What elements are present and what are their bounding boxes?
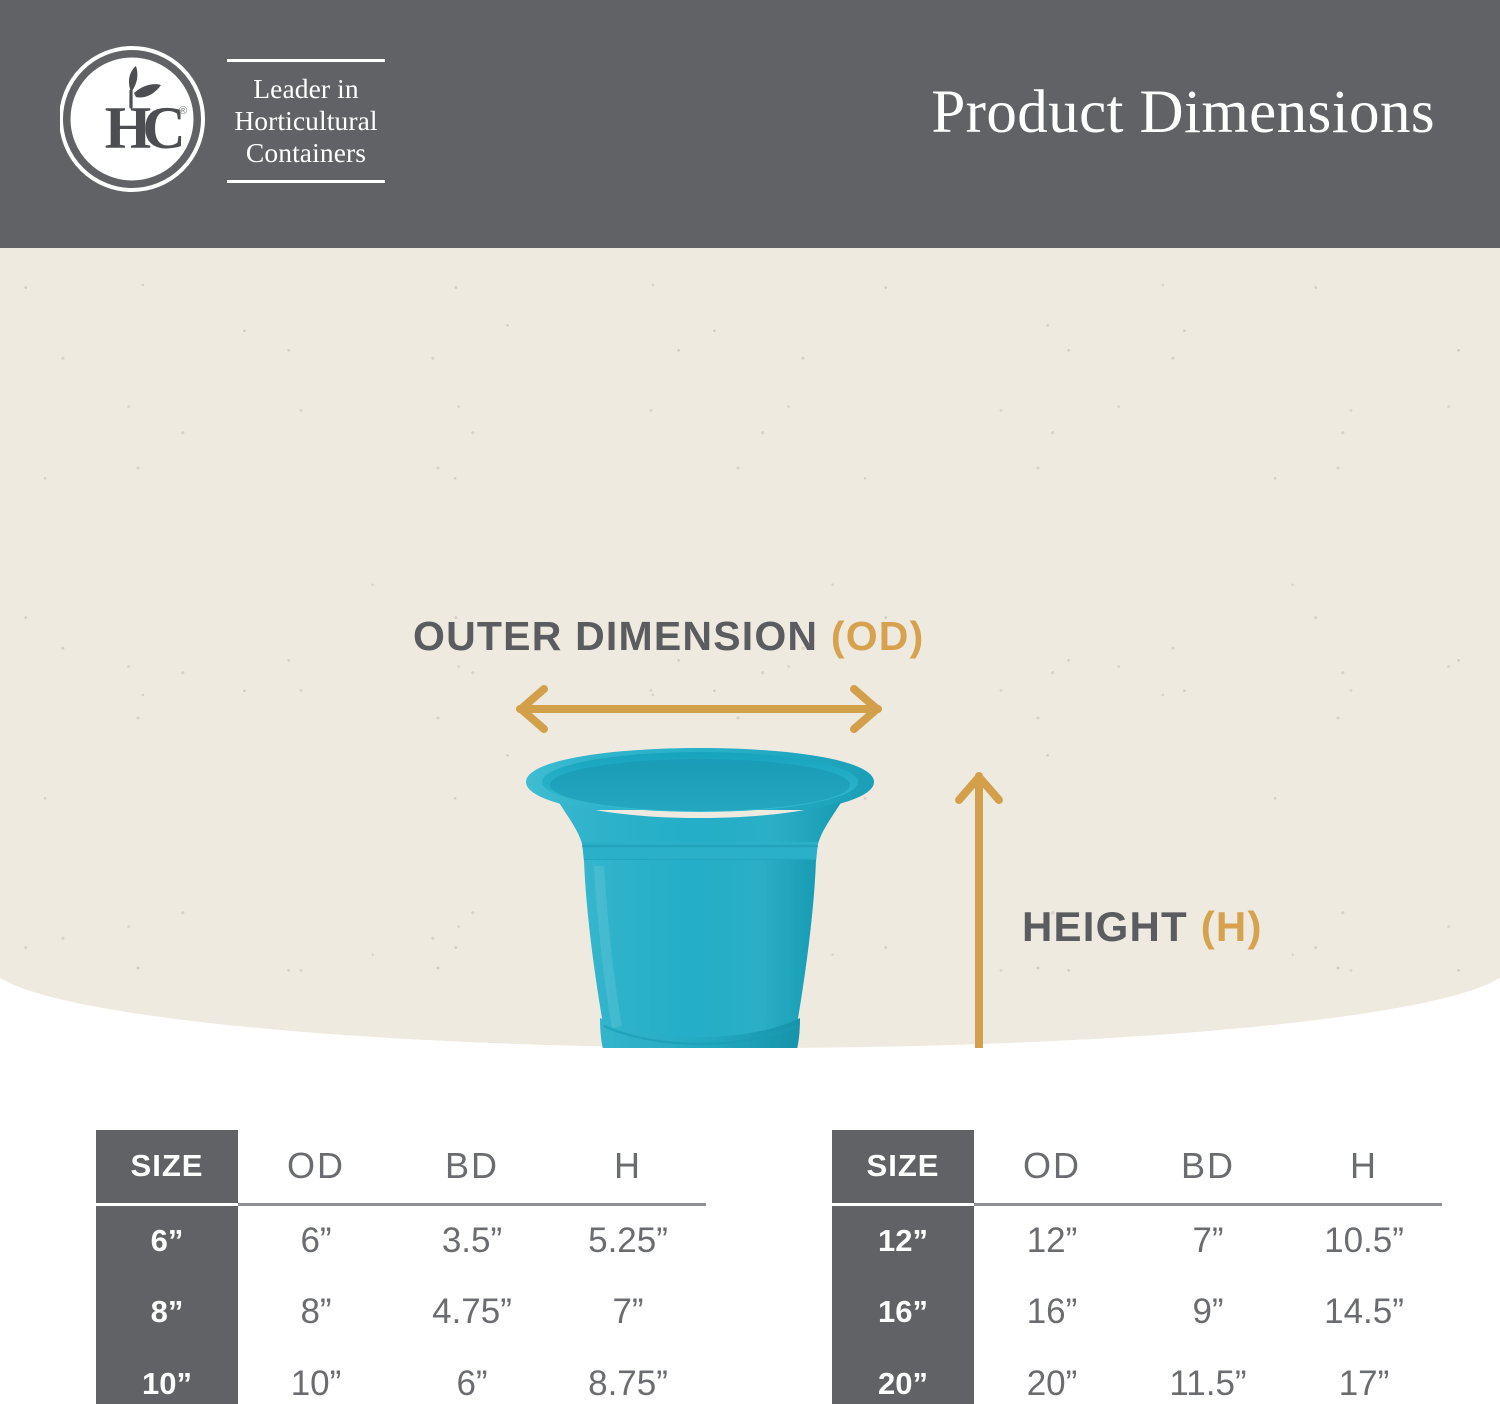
outer-dimension-label: OUTER DIMENSION (OD) <box>413 613 924 660</box>
cell-h: 17” <box>1286 1348 1442 1404</box>
column-header-size: SIZE <box>832 1130 974 1204</box>
cell-bd: 7” <box>1130 1204 1286 1276</box>
cell-h: 7” <box>550 1276 706 1348</box>
height-code: (H) <box>1201 903 1263 950</box>
brand-lockup: H C ® Leader in Horticultural Containers <box>60 44 385 194</box>
cell-size: 8” <box>96 1276 238 1348</box>
column-header-h: H <box>550 1130 706 1204</box>
cell-size: 10” <box>96 1348 238 1404</box>
table-row: 16” 16” 9” 14.5” <box>832 1276 1442 1348</box>
column-header-bd: BD <box>1130 1130 1286 1204</box>
page-title: Product Dimensions <box>931 82 1435 143</box>
cell-bd: 9” <box>1130 1276 1286 1348</box>
brand-tagline: Leader in Horticultural Containers <box>227 55 385 184</box>
height-label: HEIGHT (H) <box>1022 903 1263 951</box>
cell-size: 20” <box>832 1348 974 1404</box>
planter-pot-illustration <box>508 746 892 1048</box>
cell-size: 6” <box>96 1204 238 1276</box>
outer-dimension-text: OUTER DIMENSION <box>413 613 831 659</box>
cell-bd: 3.5” <box>394 1204 550 1276</box>
header-bar: H C ® Leader in Horticultural Containers… <box>0 0 1500 248</box>
table-row: 8” 8” 4.75” 7” <box>96 1276 706 1348</box>
table-row: 6” 6” 3.5” 5.25” <box>96 1204 706 1276</box>
product-dimensions-infographic: H C ® Leader in Horticultural Containers… <box>0 0 1500 1404</box>
cell-od: 12” <box>974 1204 1130 1276</box>
height-text: HEIGHT <box>1022 903 1201 950</box>
cell-h: 5.25” <box>550 1204 706 1276</box>
cell-bd: 4.75” <box>394 1276 550 1348</box>
size-tables-section: SIZE OD BD H 6” 6” 3.5” 5.25” 8” <box>0 1048 1500 1404</box>
size-table-large: SIZE OD BD H 12” 12” 7” 10.5” 16” <box>832 1130 1442 1404</box>
tagline-rule-bottom <box>227 180 385 183</box>
cell-h: 8.75” <box>550 1348 706 1404</box>
cell-od: 6” <box>238 1204 394 1276</box>
column-header-h: H <box>1286 1130 1442 1204</box>
cell-od: 10” <box>238 1348 394 1404</box>
outer-dimension-code: (OD) <box>831 613 925 659</box>
diagram-panel: OUTER DIMENSION (OD) <box>0 248 1500 1048</box>
tagline-text: Leader in Horticultural Containers <box>234 73 377 170</box>
tagline-rule-top <box>227 59 385 62</box>
cell-od: 16” <box>974 1276 1130 1348</box>
cell-h: 14.5” <box>1286 1276 1442 1348</box>
outer-dimension-arrow-icon <box>510 685 888 733</box>
table-header-row: SIZE OD BD H <box>96 1130 706 1204</box>
table-row: 10” 10” 6” 8.75” <box>96 1348 706 1404</box>
height-arrow-icon <box>955 766 1003 1048</box>
cell-bd: 11.5” <box>1130 1348 1286 1404</box>
svg-text:®: ® <box>179 105 187 117</box>
column-header-od: OD <box>974 1130 1130 1204</box>
cell-bd: 6” <box>394 1348 550 1404</box>
cell-od: 8” <box>238 1276 394 1348</box>
column-header-size: SIZE <box>96 1130 238 1204</box>
cell-h: 10.5” <box>1286 1204 1442 1276</box>
table-row: 20” 20” 11.5” 17” <box>832 1348 1442 1404</box>
column-header-bd: BD <box>394 1130 550 1204</box>
cell-od: 20” <box>974 1348 1130 1404</box>
size-table-small: SIZE OD BD H 6” 6” 3.5” 5.25” 8” <box>96 1130 706 1404</box>
column-header-od: OD <box>238 1130 394 1204</box>
cell-size: 12” <box>832 1204 974 1276</box>
table-header-row: SIZE OD BD H <box>832 1130 1442 1204</box>
table-row: 12” 12” 7” 10.5” <box>832 1204 1442 1276</box>
cell-size: 16” <box>832 1276 974 1348</box>
hc-logo-icon: H C ® <box>60 44 205 194</box>
